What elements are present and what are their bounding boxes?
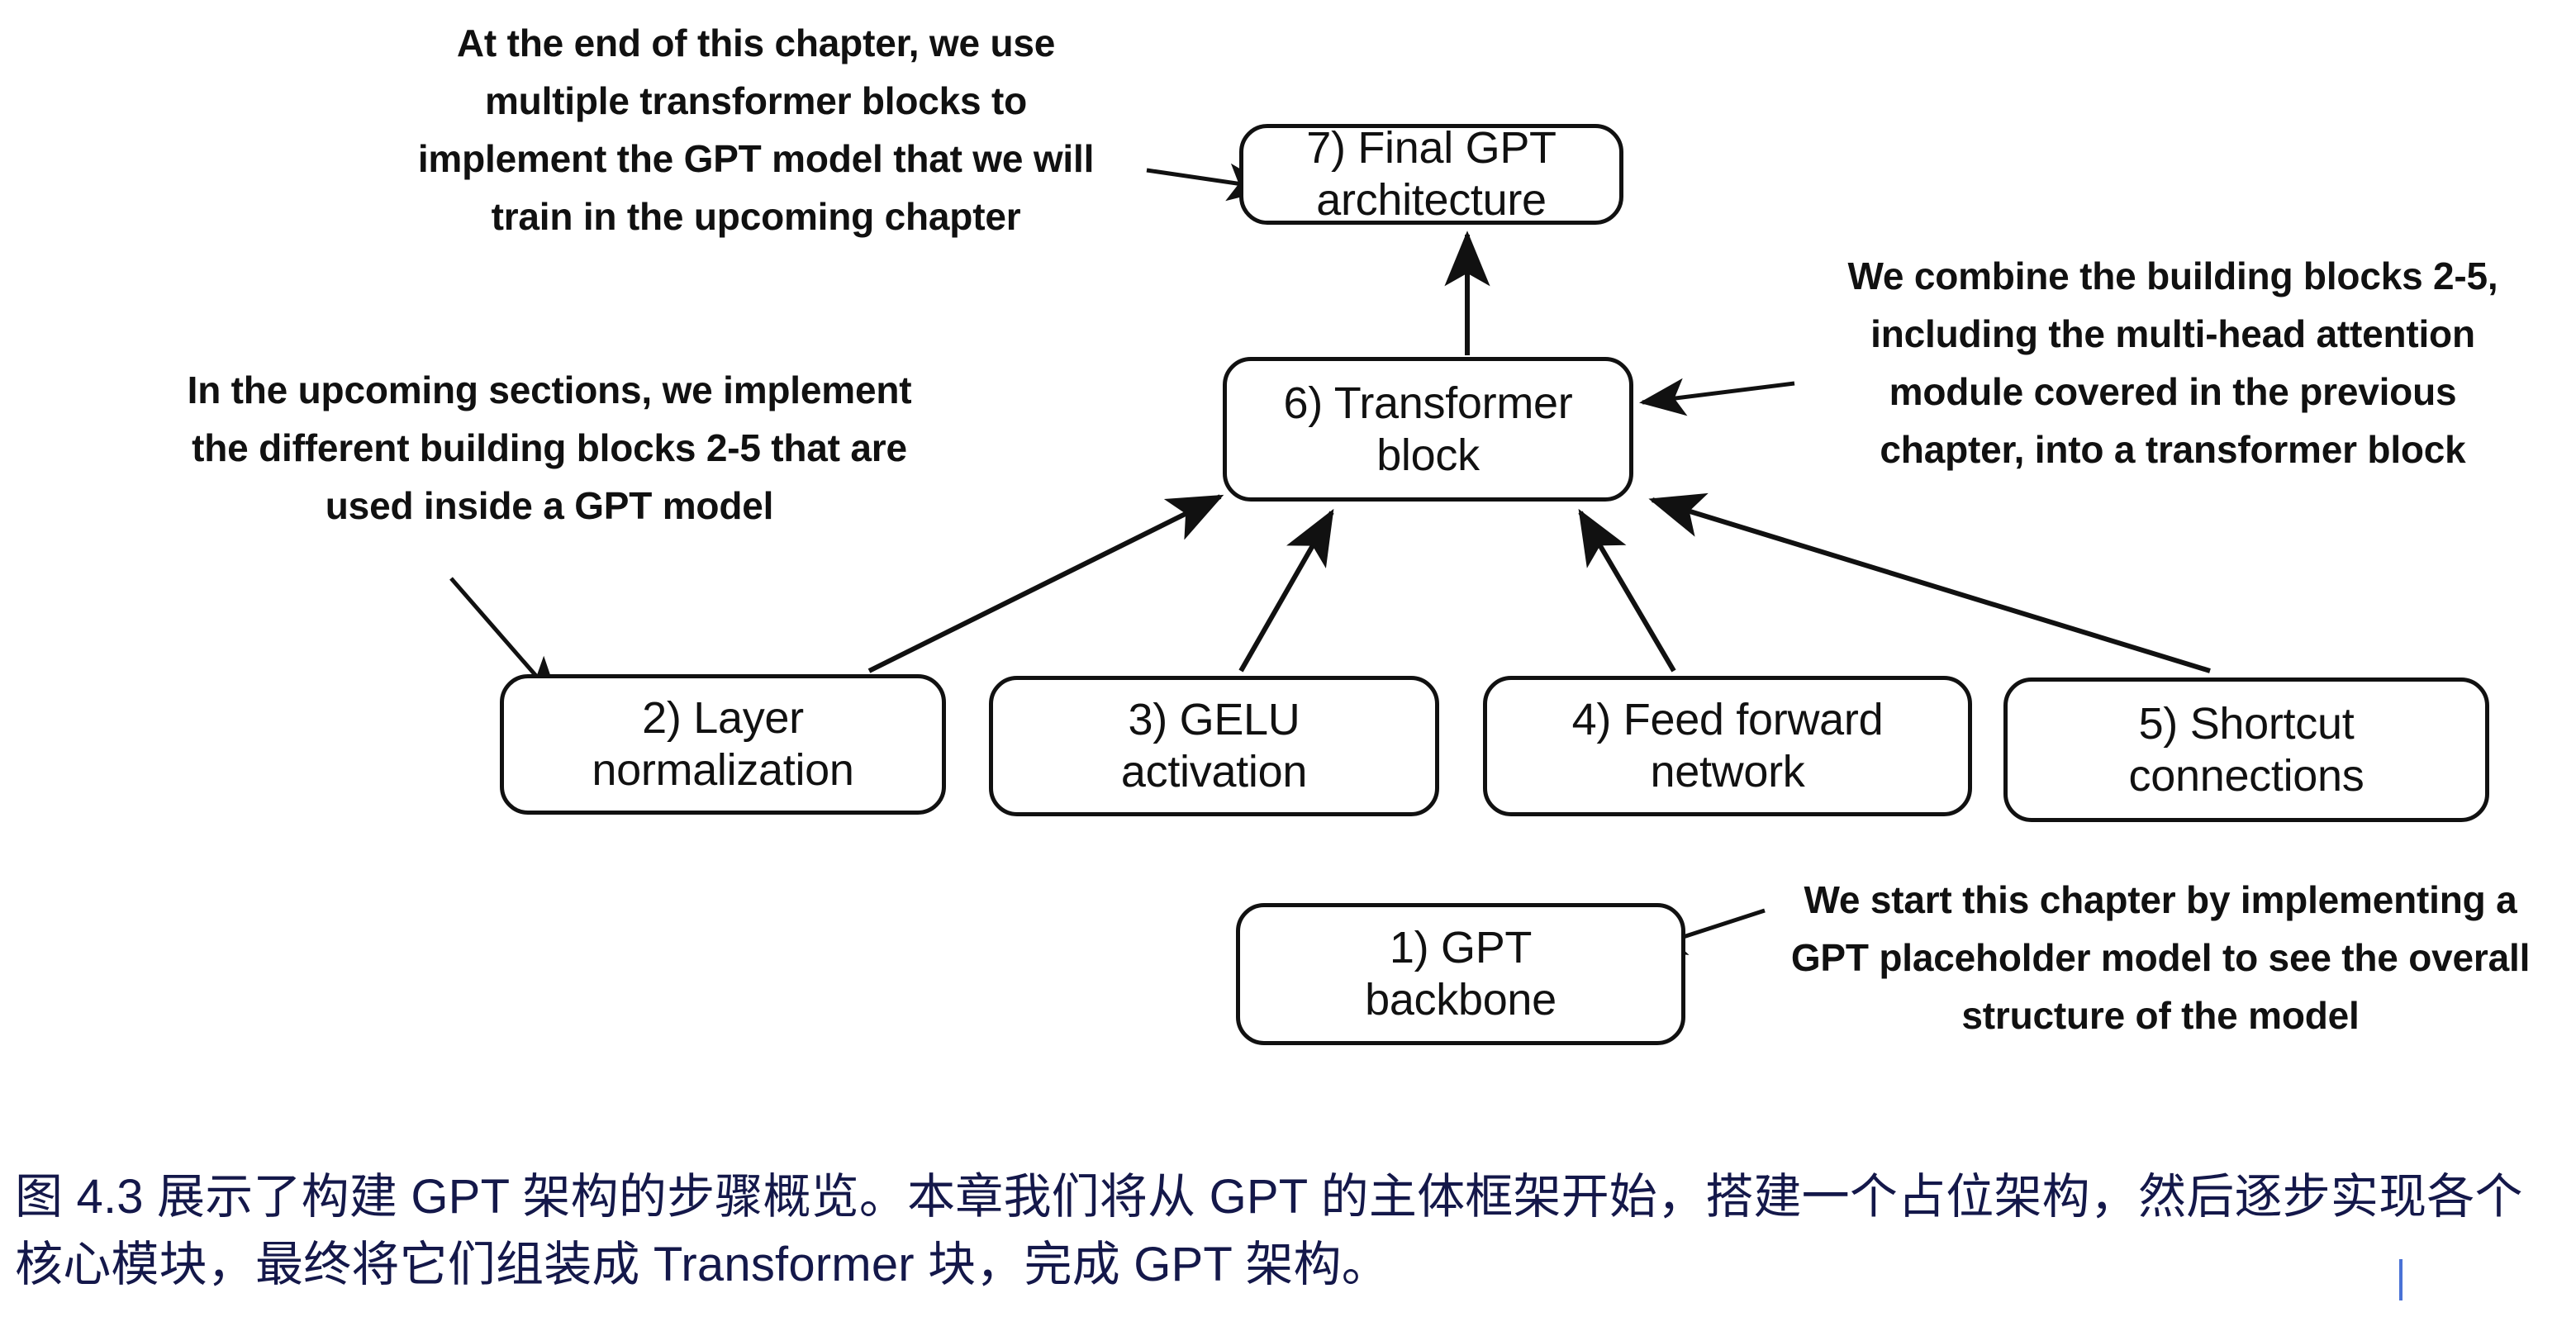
annotation-left: In the upcoming sections, we implement t… (132, 362, 967, 535)
node-feed-forward-network[interactable]: 4) Feed forward network (1483, 676, 1972, 816)
node-final-gpt-architecture-line2: architecture (1298, 174, 1564, 226)
node-feed-forward-network-line1: 4) Feed forward (1564, 694, 1892, 746)
node-shortcut-connections-line1: 5) Shortcut (2121, 698, 2373, 750)
figure-caption: 图 4.3 展示了构建 GPT 架构的步骤概览。本章我们将从 GPT 的主体框架… (15, 1163, 2559, 1300)
node-gpt-backbone-line2: backbone (1357, 974, 1565, 1026)
edge-gelu-to-transformer (1241, 512, 1332, 671)
node-layer-normalization[interactable]: 2) Layer normalization (500, 674, 946, 815)
figure-canvas: 7) Final GPT architecture 6) Transformer… (0, 0, 2576, 1317)
node-layer-normalization-line1: 2) Layer (583, 692, 862, 744)
node-gelu-activation-line2: activation (1113, 746, 1315, 798)
node-layer-normalization-line2: normalization (583, 744, 862, 796)
node-gpt-backbone-line1: 1) GPT (1357, 922, 1565, 974)
node-gelu-activation[interactable]: 3) GELU activation (989, 676, 1439, 816)
node-gelu-activation-line1: 3) GELU (1113, 694, 1315, 746)
text-caret[interactable] (2399, 1259, 2403, 1300)
annotation-top: At the end of this chapter, we use multi… (388, 15, 1124, 246)
node-transformer-block[interactable]: 6) Transformer block (1223, 357, 1633, 502)
leader-right-annotation (1642, 383, 1794, 402)
node-final-gpt-architecture-line1: 7) Final GPT (1298, 122, 1564, 174)
edge-shortcut-to-transformer (1652, 500, 2210, 671)
node-transformer-block-line1: 6) Transformer (1276, 378, 1581, 430)
node-shortcut-connections[interactable]: 5) Shortcut connections (2003, 678, 2489, 822)
annotation-right: We combine the building blocks 2-5, incl… (1785, 248, 2561, 479)
node-feed-forward-network-line2: network (1564, 746, 1892, 798)
node-final-gpt-architecture[interactable]: 7) Final GPT architecture (1239, 124, 1623, 225)
node-shortcut-connections-line2: connections (2121, 750, 2373, 802)
annotation-bottom: We start this chapter by implementing a … (1768, 872, 2553, 1045)
node-transformer-block-line2: block (1276, 430, 1581, 482)
edge-ffn-to-transformer (1580, 512, 1674, 671)
node-gpt-backbone[interactable]: 1) GPT backbone (1236, 903, 1685, 1045)
